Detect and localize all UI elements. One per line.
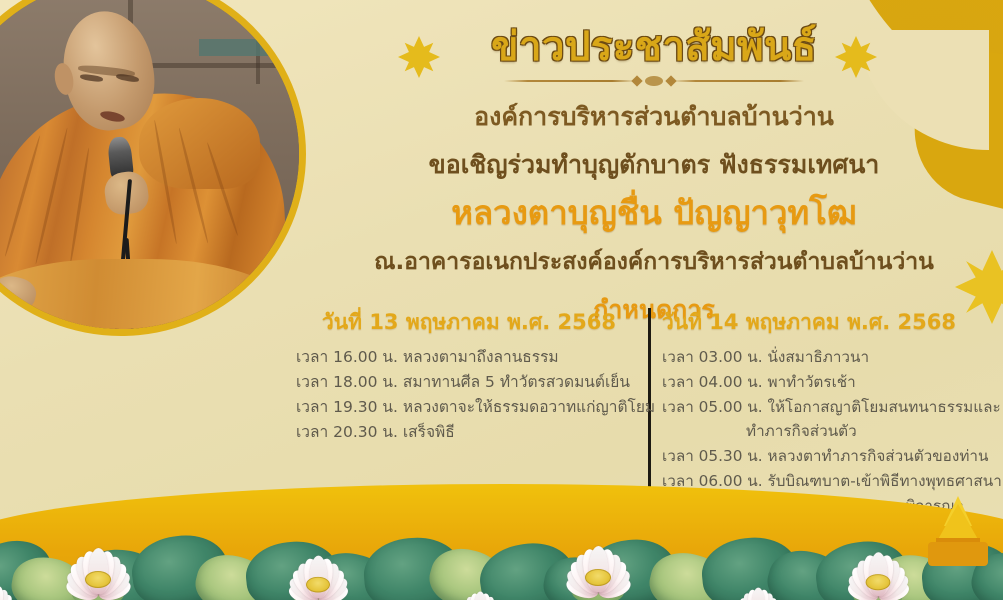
schedule-line: เวลา 20.30 น. เสร็จพิธี bbox=[296, 420, 632, 445]
schedule-line: เวลา 16.00 น. หลวงตามาถึงลานธรรม bbox=[296, 345, 632, 370]
schedule-line: เวลา 18.00 น. สมาทานศีล 5 ทำวัตรสวดมนต์เ… bbox=[296, 370, 632, 395]
day1-heading: วันที่ 13 พฤษภาคม พ.ศ. 2568 bbox=[296, 306, 632, 339]
lotus-seed-pod bbox=[306, 577, 330, 593]
lotus-flower bbox=[558, 522, 638, 592]
organization-name: องค์การบริหารส่วนตำบลบ้านว่าน bbox=[318, 101, 990, 132]
venue-line: ณ.อาคารอเนกประสงค์องค์การบริหารส่วนตำบลบ… bbox=[318, 244, 990, 280]
bottom-gold-band bbox=[0, 484, 1003, 600]
header-block: ข่าวประชาสัมพันธ์ องค์การบริหารส่วนตำบลบ… bbox=[318, 26, 990, 330]
schedule-line: เวลา 05.30 น. หลวงตาทำภารกิจส่วนตัวของท่… bbox=[662, 444, 996, 469]
invitation-line: ขอเชิญร่วมทำบุญตักบาตร ฟังธรรมเทศนา bbox=[318, 145, 990, 185]
lotus-seed-pod bbox=[866, 574, 891, 590]
page-title: ข่าวประชาสัมพันธ์ bbox=[318, 26, 990, 69]
temple-spire-icon bbox=[917, 482, 999, 566]
schedule-line: เวลา 19.30 น. หลวงตาจะให้ธรรมดอวาทแก่ญาต… bbox=[296, 395, 632, 420]
lotus-flower bbox=[455, 577, 505, 600]
lotus-flower bbox=[732, 572, 785, 600]
announcement-poster: ข่าวประชาสัมพันธ์ องค์การบริหารส่วนตำบลบ… bbox=[0, 0, 1003, 600]
lotus-flower bbox=[840, 530, 916, 597]
monk-portrait bbox=[0, 0, 306, 336]
monk-name: หลวงตาบุญชื่น ปัญญาวุทโฒ bbox=[318, 195, 990, 231]
lotus-flower bbox=[281, 534, 355, 598]
schedule-line: ทำภารกิจส่วนตัว bbox=[662, 419, 996, 444]
day2-heading: วันที่ 14 พฤษภาคม พ.ศ. 2568 bbox=[662, 306, 996, 339]
lotus-seed-pod bbox=[585, 569, 611, 586]
lotus-flower bbox=[58, 524, 138, 594]
lotus-flower bbox=[0, 567, 20, 600]
schedule-line: เวลา 05.00 น. ให้โอกาสญาติโยมสนทนาธรรมแล… bbox=[662, 395, 996, 420]
schedule-line: เวลา 04.00 น. พาทำวัตรเช้า bbox=[662, 370, 996, 395]
lotus-seed-pod bbox=[85, 571, 111, 588]
title-flourish-divider bbox=[504, 73, 804, 89]
schedule-line: เวลา 03.00 น. นั่งสมาธิภาวนา bbox=[662, 345, 996, 370]
